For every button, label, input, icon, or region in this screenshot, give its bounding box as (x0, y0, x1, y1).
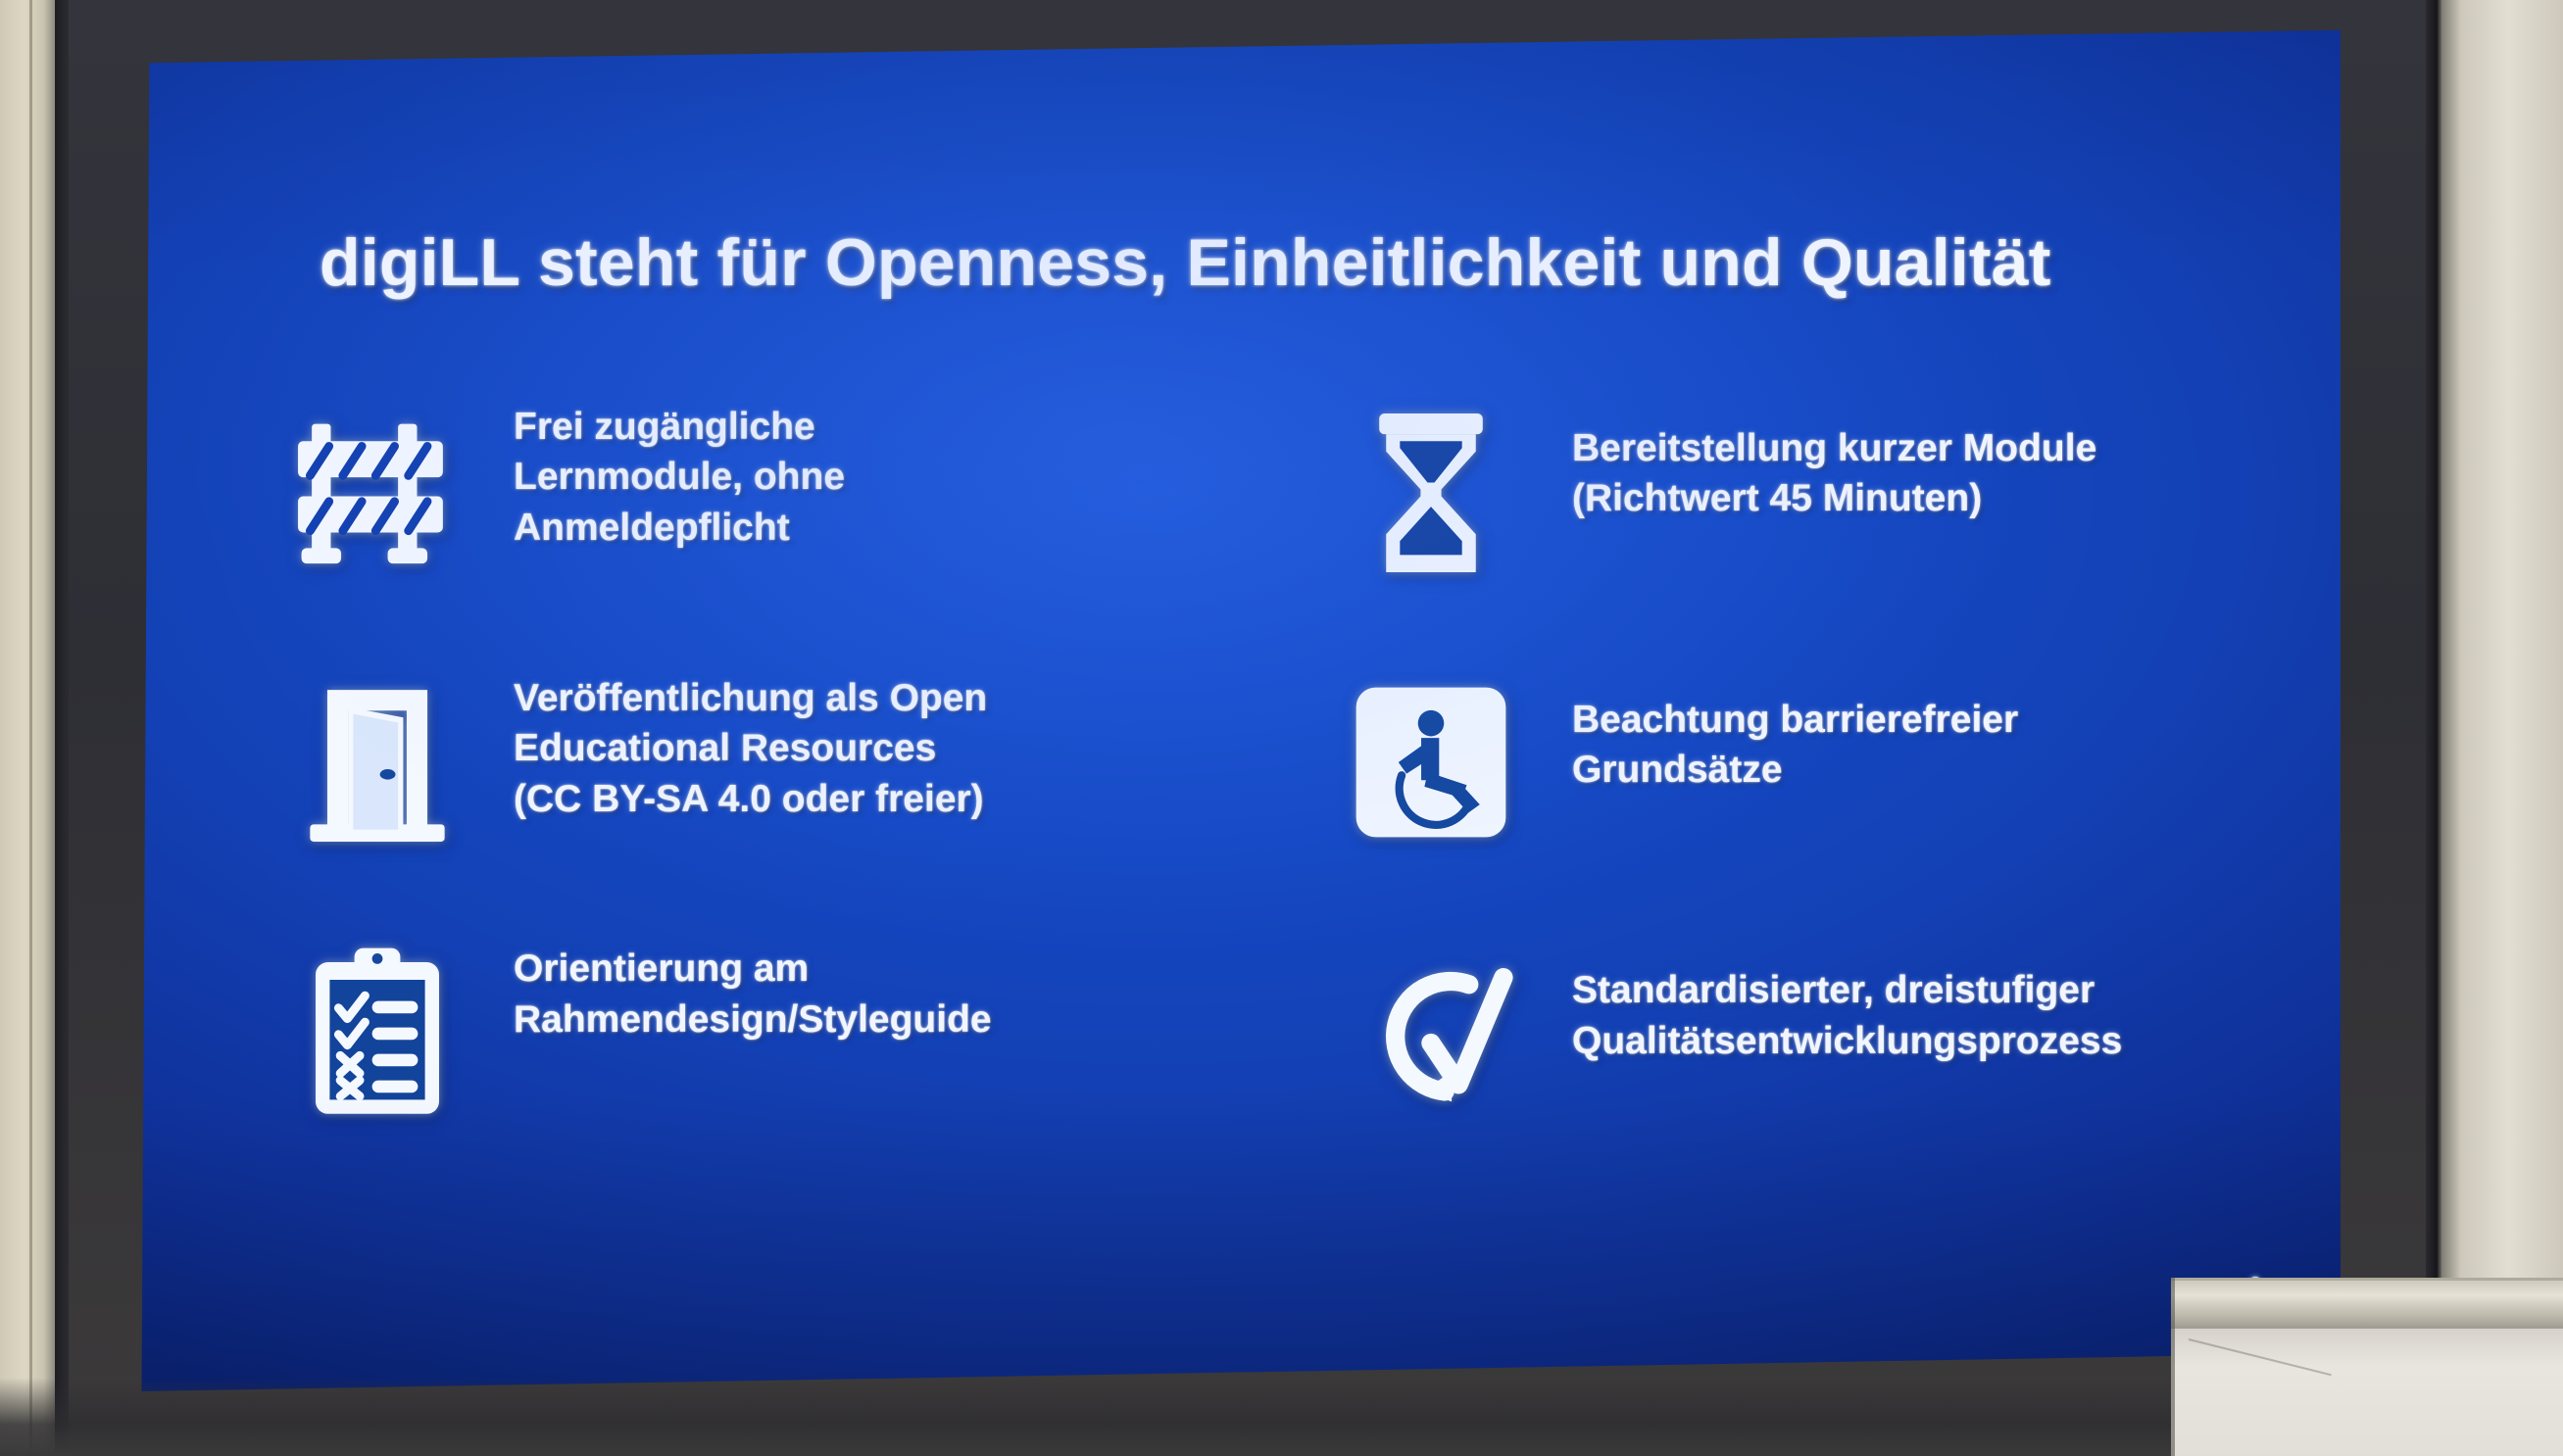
wall-seam-right (2426, 0, 2441, 1456)
feature-grid: Frei zugängliche Lernmodule, ohne Anmeld… (284, 398, 2264, 1211)
feature-line: Lernmodule, ohne (514, 452, 1215, 502)
feature-line: Rahmendesign/Styleguide (514, 995, 1215, 1044)
wheelchair-accessibility-icon (1333, 669, 1529, 855)
presentation-slide: digiLL steht für Openness, Einheitlichke… (137, 27, 2341, 1391)
feature-item-frei-zugaengliche-lernmodule: Frei zugängliche Lernmodule, ohne Anmeld… (284, 398, 1215, 669)
feature-item-bereitstellung-kurzer-module: Bereitstellung kurzer Module (Richtwert … (1333, 398, 2264, 669)
feature-text: Beachtung barrierefreier Grundsätze (1572, 669, 2264, 796)
feature-text: Frei zugängliche Lernmodule, ohne Anmeld… (514, 398, 1215, 553)
projection-scene: digiLL steht für Openness, Einheitlichke… (0, 0, 2563, 1456)
flipchart-board (2171, 1278, 2563, 1456)
feature-line: Grundsätze (1572, 745, 2264, 795)
wall-strip-left (0, 0, 55, 1456)
flipchart-edge (2171, 1278, 2175, 1456)
feature-item-veroeffentlichung-oer: Veröffentlichung als Open Educational Re… (284, 669, 1215, 941)
feature-line: (CC BY-SA 4.0 oder freier) (514, 774, 1215, 824)
feature-line: Standardisierter, dreistufiger (1572, 965, 2264, 1015)
feature-line: Anmeldepflicht (514, 503, 1215, 553)
flipchart-rail (2171, 1278, 2563, 1332)
feature-item-rahmendesign-styleguide: Orientierung am Rahmendesign/Styleguide (284, 940, 1215, 1211)
feature-item-barrierefreiheit: Beachtung barrierefreier Grundsätze (1333, 669, 2264, 941)
feature-item-qualitaetsentwicklungsprozess: Standardisierter, dreistufiger Qualitäts… (1333, 940, 2264, 1211)
feature-line: Qualitätsentwicklungsprozess (1572, 1016, 2264, 1066)
feature-line: Veröffentlichung als Open (514, 673, 1215, 723)
feature-text: Bereitstellung kurzer Module (Richtwert … (1572, 398, 2264, 524)
feature-line: Frei zugängliche (514, 402, 1215, 452)
wall-seam-left (55, 0, 69, 1456)
feature-text: Orientierung am Rahmendesign/Styleguide (514, 940, 1215, 1044)
wall-strip-right (2441, 0, 2563, 1456)
feature-text: Veröffentlichung als Open Educational Re… (514, 669, 1215, 824)
feature-line: (Richtwert 45 Minuten) (1572, 473, 2264, 523)
feature-line: Beachtung barrierefreier (1572, 695, 2264, 745)
road-barrier-icon (284, 400, 470, 586)
cycle-checkmark-icon (1333, 940, 1529, 1126)
feature-line: Educational Resources (514, 723, 1215, 773)
feature-line: Orientierung am (514, 944, 1215, 994)
open-door-icon (284, 669, 470, 855)
feature-line: Bereitstellung kurzer Module (1572, 423, 2264, 473)
clipboard-checklist-icon (284, 940, 470, 1126)
slide-title: digiLL steht für Openness, Einheitlichke… (320, 228, 2241, 298)
feature-text: Standardisierter, dreistufiger Qualitäts… (1572, 940, 2264, 1066)
hourglass-icon (1333, 400, 1529, 586)
